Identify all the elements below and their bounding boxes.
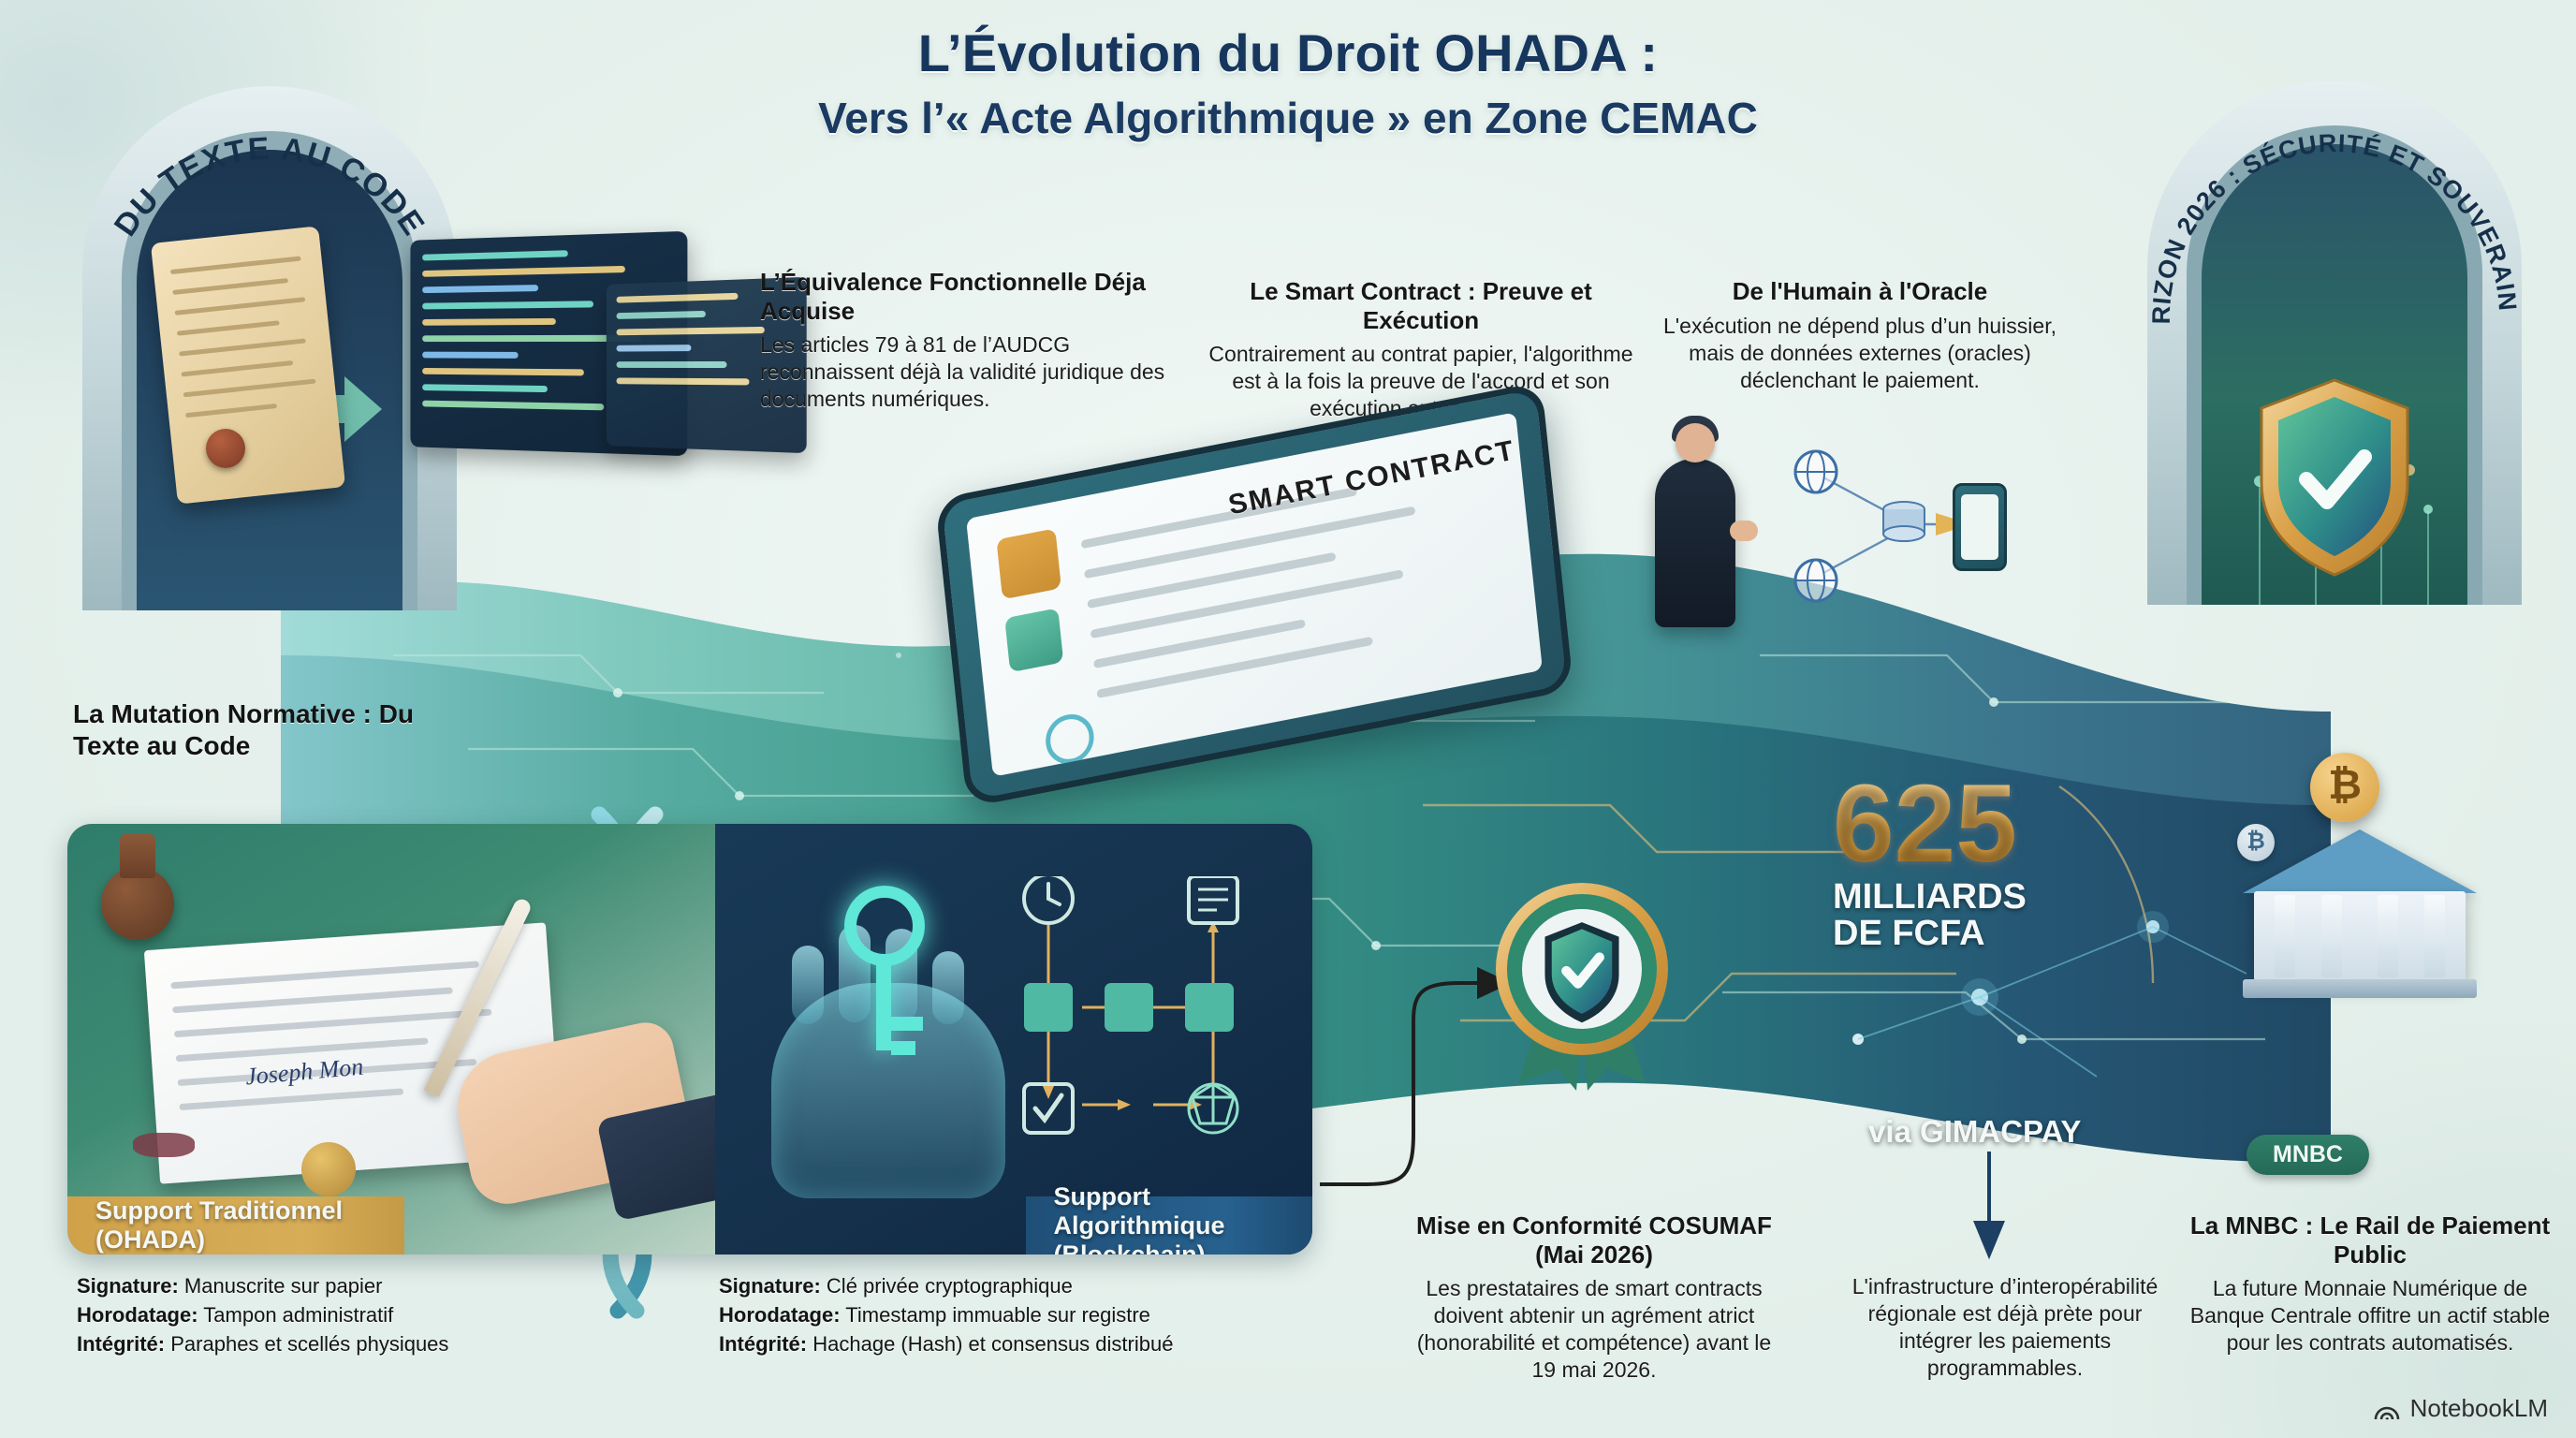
spec-row: Signature: Clé privée cryptographique [719,1271,1337,1300]
callout-mnbc-body: La future Monnaie Numérique de Banque Ce… [2183,1275,2557,1357]
notebooklm-logo-icon [2373,1397,2401,1421]
spec-value: Timestamp immuable sur registre [845,1303,1150,1327]
spec-label: Horodatage: [77,1303,198,1327]
callout-oracle-body: L'exécution ne dépend plus d’un huissier… [1659,313,2061,394]
central-bank-icon [2243,829,2477,1007]
mnbc-badge: MNBC [2247,1135,2369,1175]
parchment-scroll-icon [151,226,345,504]
page-title: L’Évolution du Droit OHADA : [0,22,2576,83]
infographic-canvas: L’Évolution du Droit OHADA : Vers l’« Ac… [0,0,2576,1438]
watermark: NotebookLM [2373,1394,2548,1423]
gold-seal-icon [301,1142,356,1196]
key-tooth-icon [891,1017,923,1031]
judge-head-icon [1676,423,1715,462]
callout-smart-contract-heading: Le Smart Contract : Preuve et Exécution [1206,277,1636,334]
comparison-algorithmic-half: Support Algorithmique (Blockchain) [715,824,1312,1255]
statistic-number: 625 [1833,773,2235,875]
bitcoin-coin-icon: ₿ [2310,753,2379,822]
spec-label: Intégrité: [719,1332,807,1356]
spec-value: Tampon administratif [203,1303,393,1327]
callout-mnbc: La MNBC : Le Rail de Paiement Public La … [2183,1211,2557,1357]
section-label-mutation: La Mutation Normative : Du Texte au Code [73,698,476,761]
statistic-via-label: via GIMACPAY [1868,1114,2081,1150]
callout-cosumaf-heading: Mise en Conformité COSUMAF (Mai 2026) [1402,1211,1786,1269]
spec-row: Signature: Manuscrite sur papier [77,1271,676,1300]
comparison-traditional-bar: Support Traditionnel (OHADA) [67,1196,404,1255]
mobile-payment-icon [1953,483,2007,571]
spec-label: Signature: [77,1274,179,1298]
spec-value: Hachage (Hash) et consensus distribué [812,1332,1173,1356]
judge-hand-icon [1730,521,1758,541]
spec-value: Manuscrite sur papier [184,1274,383,1298]
callout-gimacpay: L'infrastructure d’interopérabilité régi… [1837,1273,2173,1382]
spec-row: Horodatage: Timestamp immuable sur regis… [719,1300,1337,1329]
callout-gimacpay-body: L'infrastructure d’interopérabilité régi… [1837,1273,2173,1382]
spec-value: Paraphes et scellés physiques [170,1332,448,1356]
judge-figure-icon [1655,459,1735,627]
spec-row: Horodatage: Tampon administratif [77,1300,676,1329]
comparison-algorithmic-bar-label: Support Algorithmique (Blockchain) [1054,1182,1312,1255]
wax-seal-icon [206,429,245,468]
flow-arrow-gimacpay [1976,1152,2002,1255]
spec-row: Intégrité: Hachage (Hash) et consensus d… [719,1329,1337,1358]
statistic-unit-line2: DE FCFA [1833,916,2235,953]
callout-equivalence: L’Équivalence Fonctionnelle Déja Acquise… [760,268,1200,413]
callout-oracle: De l'Humain à l'Oracle L'exécution ne dé… [1659,277,2061,394]
spec-row: Intégrité: Paraphes et scellés physiques [77,1329,676,1358]
specs-algorithmic: Signature: Clé privée cryptographique Ho… [719,1271,1337,1359]
cryptographic-key-icon [844,886,925,966]
comparison-algorithmic-bar: Support Algorithmique (Blockchain) [1026,1196,1312,1255]
spec-label: Horodatage: [719,1303,841,1327]
comparison-traditional-bar-label: Support Traditionnel (OHADA) [95,1196,404,1255]
specs-traditional: Signature: Manuscrite sur papier Horodat… [77,1271,676,1359]
key-statistic: 625 MILLIARDS DE FCFA [1833,773,2235,953]
callout-equivalence-body: Les articles 79 à 81 de l’AUDCG reconnai… [760,331,1200,413]
blockchain-flow-diagram [996,876,1286,1157]
callout-oracle-heading: De l'Humain à l'Oracle [1659,277,2061,306]
key-stem-icon [876,961,891,1050]
key-tooth-icon [891,1041,915,1055]
rubber-stamp-handle-icon [120,833,155,878]
watermark-label: NotebookLM [2410,1394,2548,1423]
arch-right: HORIZON 2026 : SÉCURITÉ ET SOUVERAINETÉ [2129,81,2540,605]
spec-label: Intégrité: [77,1332,165,1356]
spec-value: Clé privée cryptographique [827,1274,1073,1298]
callout-smart-contract: Le Smart Contract : Preuve et Exécution … [1206,277,1636,422]
compliance-medal-badge [1479,875,1685,1091]
callout-mnbc-heading: La MNBC : Le Rail de Paiement Public [2183,1211,2557,1269]
callout-equivalence-heading: L’Équivalence Fonctionnelle Déja Acquise [760,268,1200,325]
spec-label: Signature: [719,1274,821,1298]
ink-stamp-mark-icon [133,1133,195,1157]
callout-cosumaf: Mise en Conformité COSUMAF (Mai 2026) Le… [1402,1211,1786,1384]
bitcoin-coin-small-icon: ₿ [2237,824,2275,861]
comparison-traditional-half: Joseph Mon Support Traditionnel (OHADA) [67,824,715,1255]
comparison-panel: Joseph Mon Support Traditionnel (OHADA) [67,824,1312,1255]
callout-cosumaf-body: Les prestataires de smart contracts doiv… [1402,1275,1786,1384]
